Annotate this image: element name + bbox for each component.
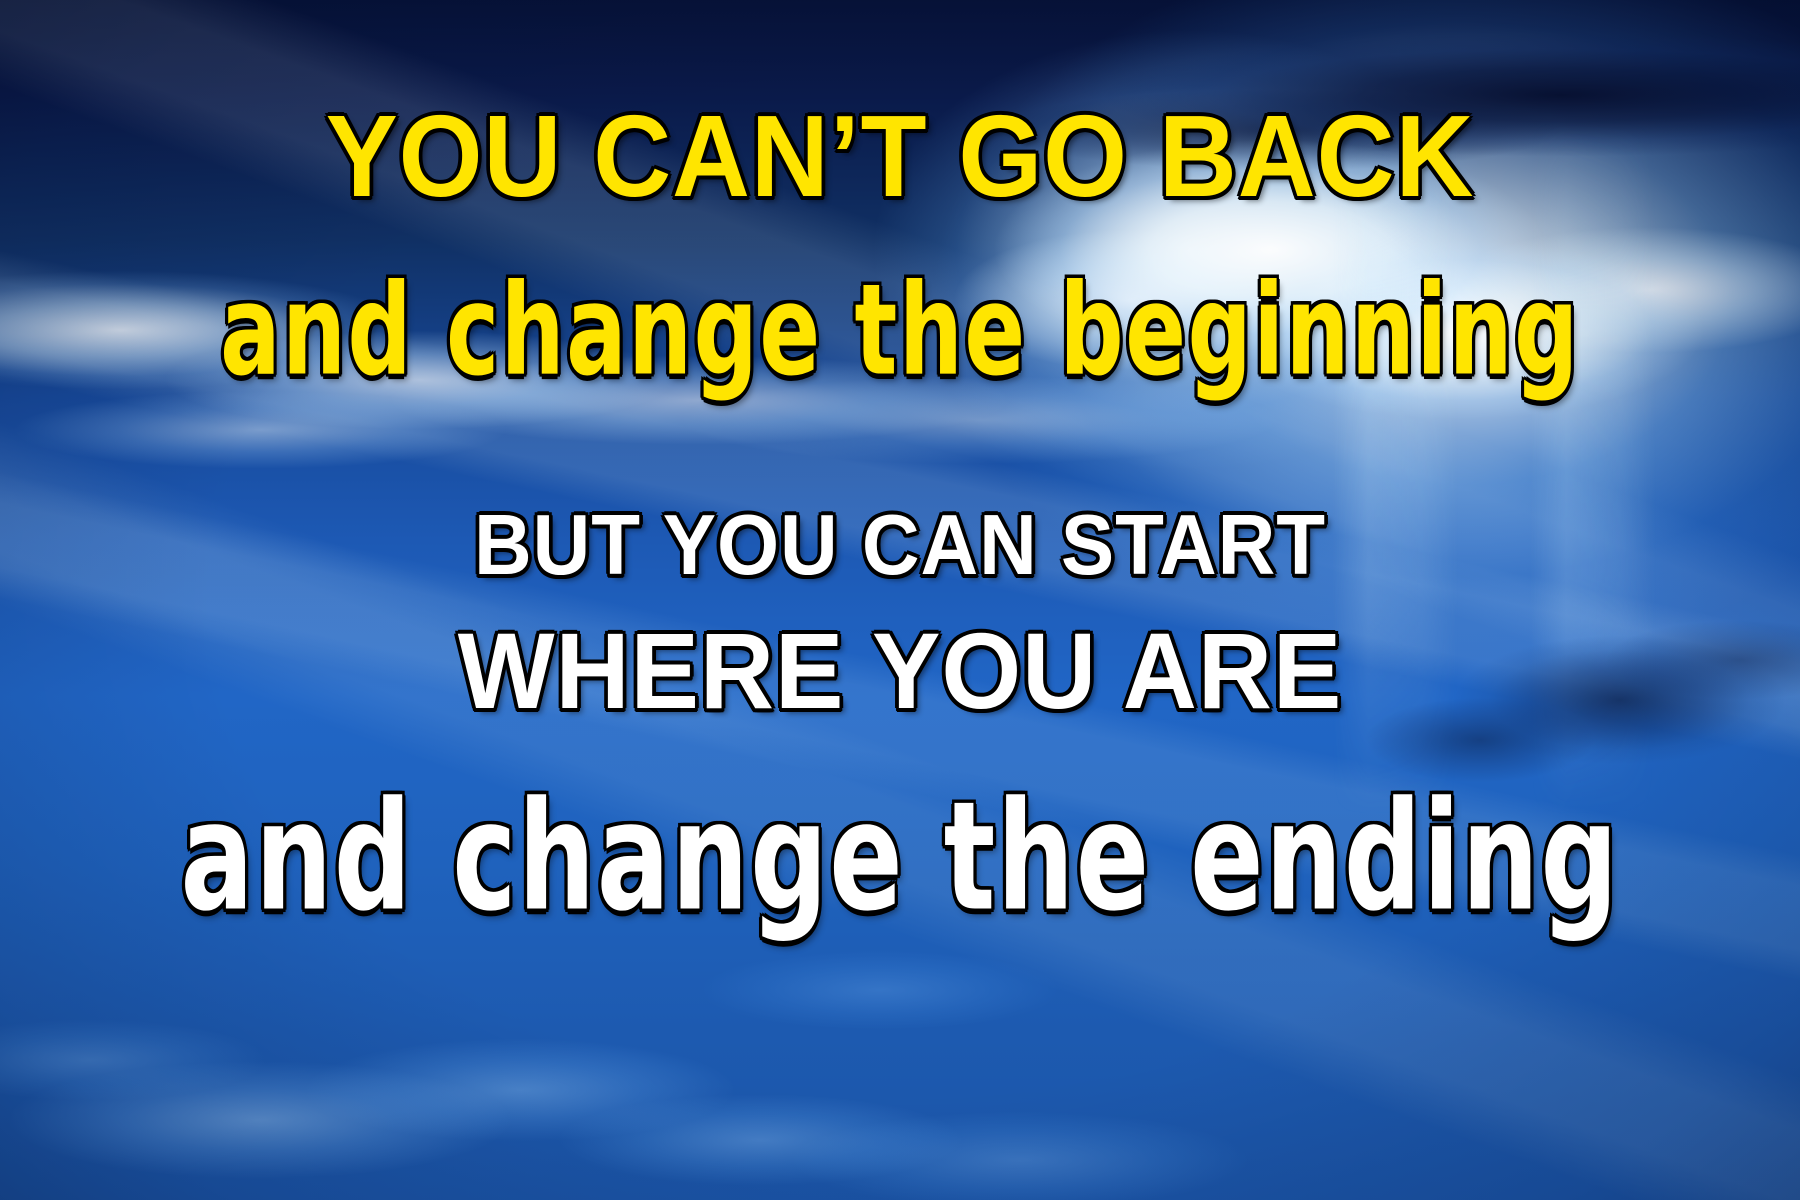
quote-poster: YOU CAN’T GO BACK and change the beginni…: [0, 0, 1800, 1200]
quote-line-1: YOU CAN’T GO BACK: [63, 98, 1737, 214]
quote-line-5: and change the ending: [162, 782, 1638, 932]
quote-text-stack: YOU CAN’T GO BACK and change the beginni…: [0, 0, 1800, 1200]
quote-line-4: WHERE YOU ARE: [45, 617, 1755, 725]
quote-line-3: BUT YOU CAN START: [54, 503, 1746, 588]
quote-line-2: and change the beginning: [180, 268, 1620, 393]
